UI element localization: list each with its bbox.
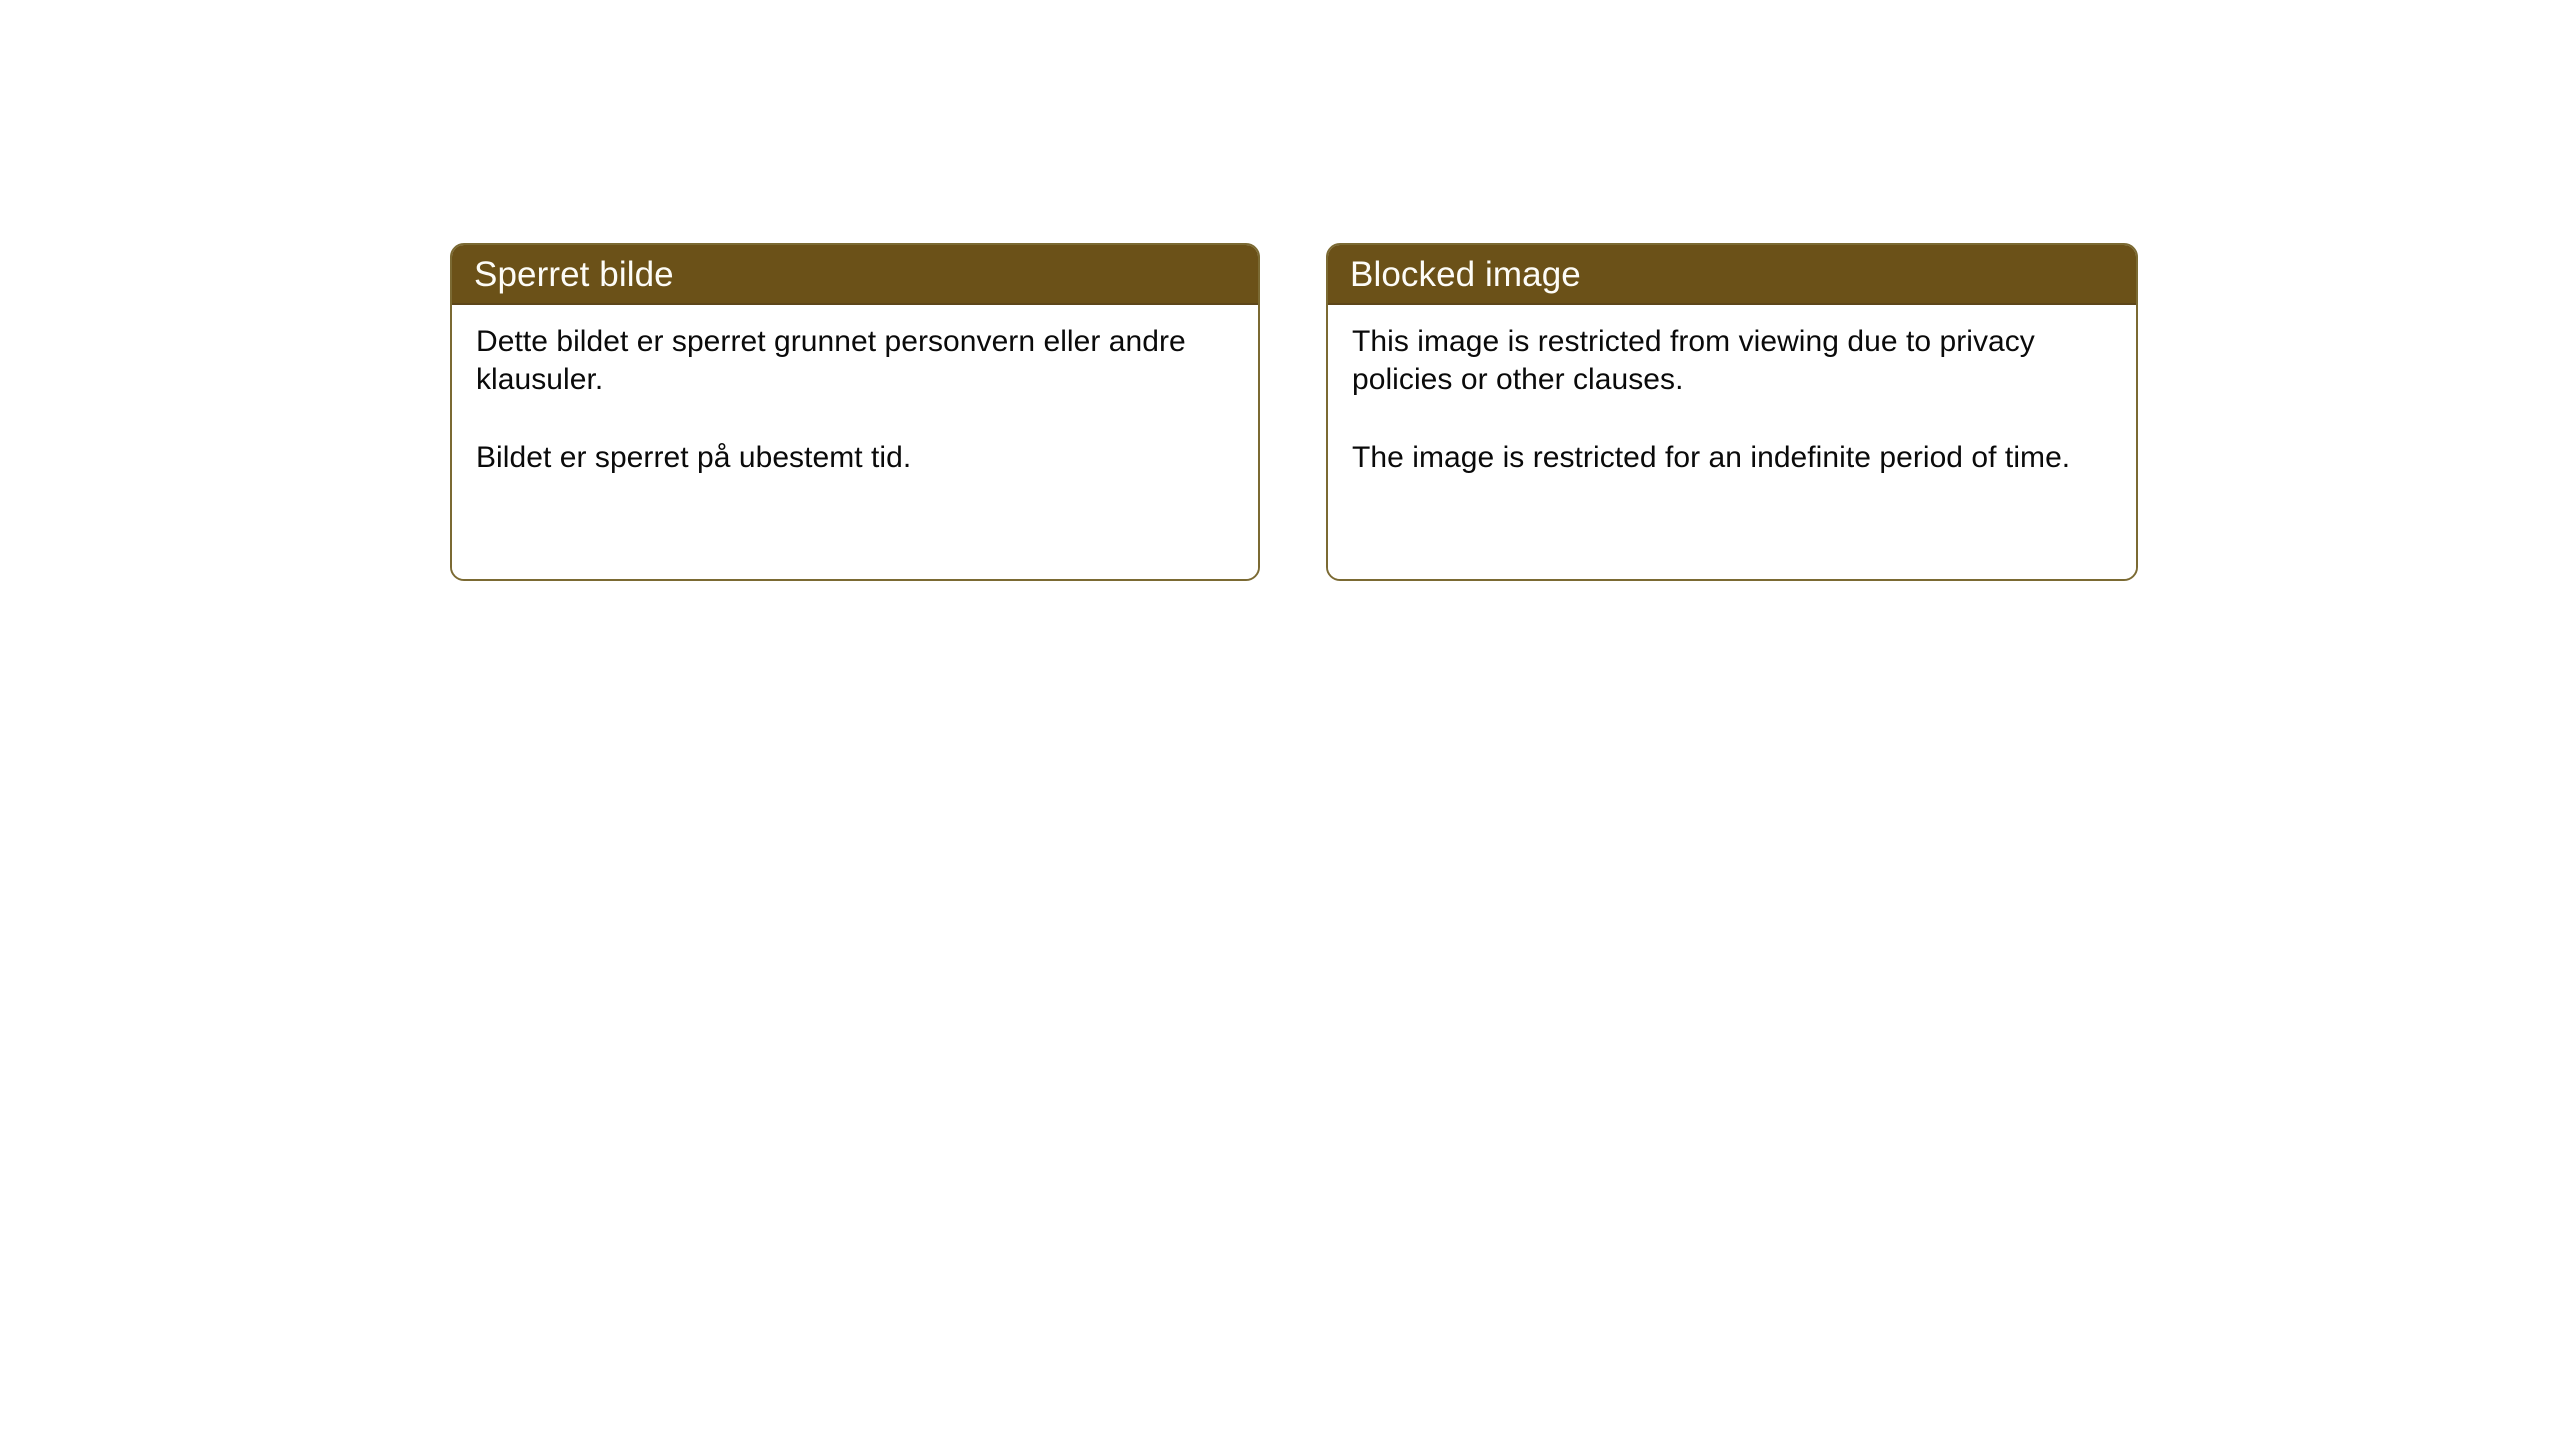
- panel-paragraph-en-1: This image is restricted from viewing du…: [1352, 323, 2114, 399]
- panel-paragraph-no-1: Dette bildet er sperret grunnet personve…: [476, 323, 1236, 399]
- panel-paragraph-no-2: Bildet er sperret på ubestemt tid.: [476, 439, 1236, 477]
- blocked-image-panel-no: Sperret bilde Dette bildet er sperret gr…: [450, 243, 1260, 581]
- panel-body-en: This image is restricted from viewing du…: [1328, 305, 2136, 579]
- panel-paragraph-en-2: The image is restricted for an indefinit…: [1352, 439, 2114, 477]
- panel-body-no: Dette bildet er sperret grunnet personve…: [452, 305, 1258, 579]
- blocked-image-panel-en: Blocked image This image is restricted f…: [1326, 243, 2138, 581]
- page-canvas: Sperret bilde Dette bildet er sperret gr…: [0, 0, 2560, 1440]
- panel-header-en: Blocked image: [1328, 245, 2136, 305]
- panel-title-en: Blocked image: [1350, 257, 1581, 292]
- blocked-image-notice-group: Sperret bilde Dette bildet er sperret gr…: [450, 243, 2138, 581]
- panel-title-no: Sperret bilde: [474, 257, 674, 292]
- panel-header-no: Sperret bilde: [452, 245, 1258, 305]
